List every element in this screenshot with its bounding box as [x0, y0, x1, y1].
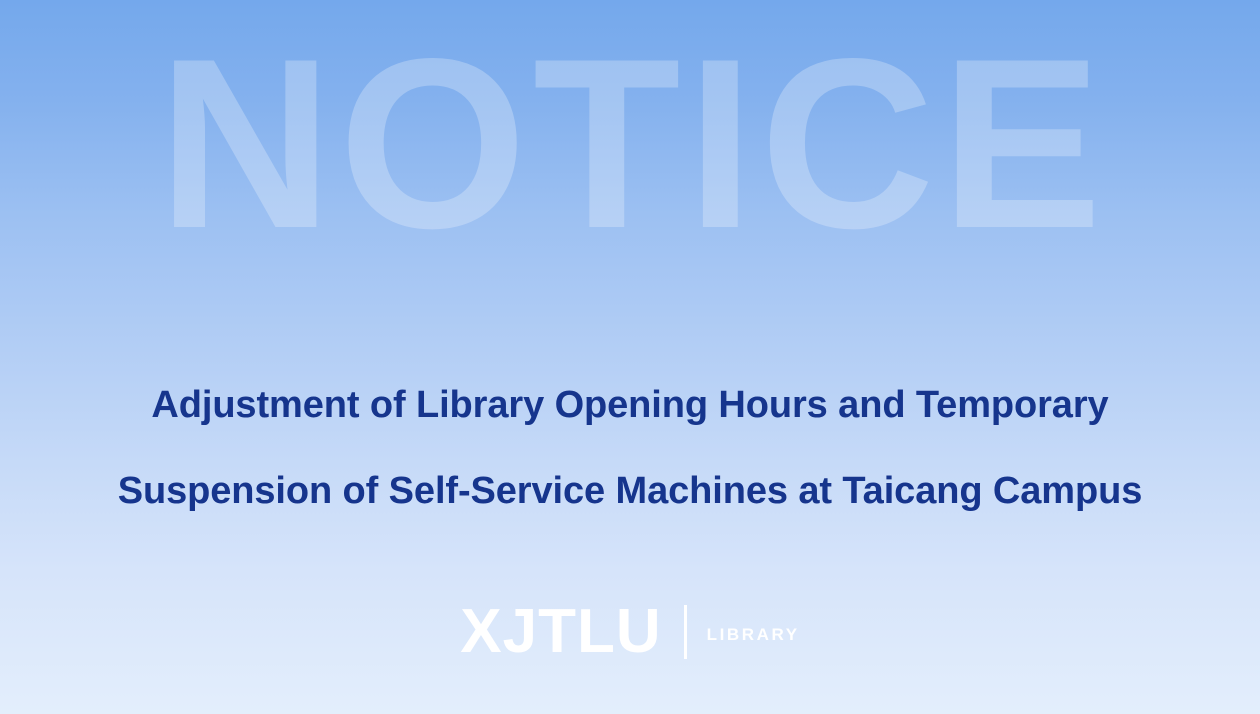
watermark-notice: NOTICE: [0, 0, 1260, 300]
notice-title: Adjustment of Library Opening Hours and …: [0, 362, 1260, 534]
logo-library-label: LIBRARY: [707, 626, 800, 643]
logo-divider-icon: [684, 605, 687, 659]
xjtlu-library-logo: XJTLU LIBRARY: [0, 598, 1260, 668]
notice-title-line-2: Suspension of Self-Service Machines at T…: [0, 448, 1260, 534]
notice-title-line-1: Adjustment of Library Opening Hours and …: [0, 362, 1260, 448]
xjtlu-wordmark: XJTLU: [460, 601, 661, 663]
watermark-text: NOTICE: [152, 23, 1108, 265]
notice-banner: NOTICE Adjustment of Library Opening Hou…: [0, 0, 1260, 714]
